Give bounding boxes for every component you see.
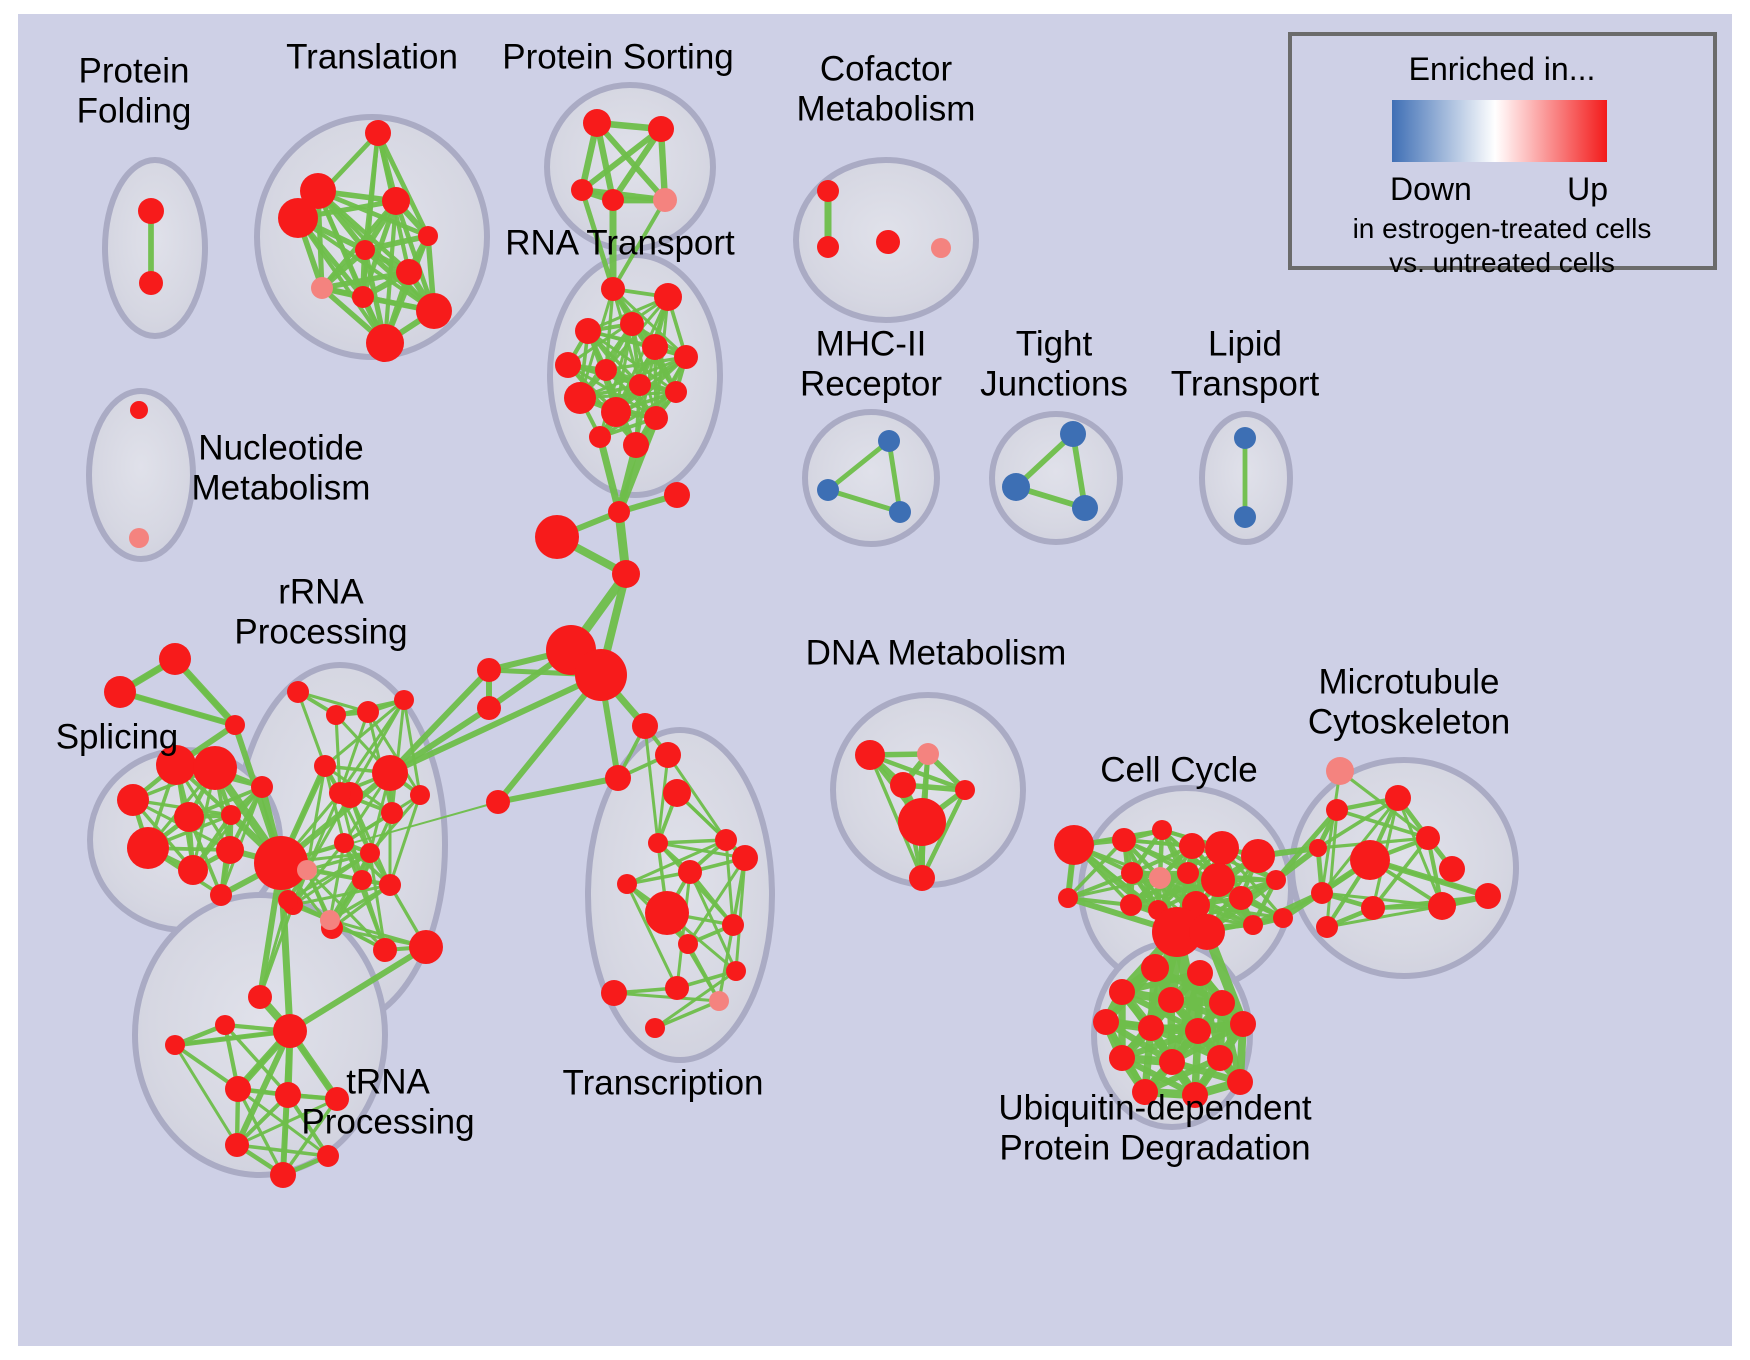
network-node[interactable] [665, 381, 687, 403]
network-node[interactable] [648, 116, 674, 142]
network-node[interactable] [564, 382, 596, 414]
network-node[interactable] [394, 690, 414, 710]
network-node[interactable] [311, 277, 333, 299]
network-node[interactable] [1326, 799, 1348, 821]
cluster-label-ubiquitin-protein-degradation: Ubiquitin-dependent [998, 1088, 1312, 1127]
network-node[interactable] [320, 910, 340, 930]
network-node[interactable] [909, 865, 935, 891]
network-node[interactable] [251, 776, 273, 798]
network-node[interactable] [1109, 979, 1135, 1005]
network-node[interactable] [715, 829, 737, 851]
cluster-label-protein-sorting: Protein Sorting [502, 37, 734, 76]
network-node[interactable] [876, 230, 900, 254]
network-node[interactable] [1326, 757, 1354, 785]
network-node[interactable] [1054, 825, 1094, 865]
cluster-label-lipid-transport: Transport [1171, 364, 1320, 403]
network-node[interactable] [216, 836, 244, 864]
network-node[interactable] [855, 740, 885, 770]
network-node[interactable] [326, 705, 346, 725]
network-node[interactable] [248, 985, 272, 1009]
network-diagram-svg: ProteinFoldingTranslationProtein Sorting… [0, 0, 1750, 1360]
cluster-label-splicing: Splicing [56, 717, 179, 756]
legend-high-label: Up [1567, 171, 1608, 207]
network-node[interactable] [352, 870, 372, 890]
network-node[interactable] [601, 980, 627, 1006]
network-node[interactable] [418, 226, 438, 246]
legend-gradient-bar [1392, 100, 1607, 162]
network-node[interactable] [817, 479, 839, 501]
network-node[interactable] [642, 334, 668, 360]
network-node[interactable] [1177, 862, 1199, 884]
network-node[interactable] [1209, 990, 1235, 1016]
network-node[interactable] [1243, 915, 1263, 935]
cluster-label-translation: Translation [286, 37, 458, 76]
network-node[interactable] [297, 860, 317, 880]
network-node[interactable] [1058, 888, 1078, 908]
network-node[interactable] [334, 833, 354, 853]
network-node[interactable] [486, 790, 510, 814]
network-node[interactable] [555, 352, 581, 378]
network-node[interactable] [138, 198, 164, 224]
network-node[interactable] [617, 874, 637, 894]
network-node[interactable] [645, 1018, 665, 1038]
network-node[interactable] [1201, 863, 1235, 897]
cluster-label-cofactor-metabolism: Cofactor [820, 49, 953, 88]
network-node[interactable] [678, 934, 698, 954]
network-node[interactable] [890, 772, 916, 798]
network-node[interactable] [1112, 828, 1136, 852]
network-node[interactable] [595, 359, 617, 381]
network-node[interactable] [878, 430, 900, 452]
network-node[interactable] [1234, 506, 1256, 528]
network-node[interactable] [817, 180, 839, 202]
network-node[interactable] [629, 374, 651, 396]
network-node[interactable] [1093, 1009, 1119, 1035]
network-node[interactable] [165, 1035, 185, 1055]
network-node[interactable] [663, 779, 691, 807]
network-node[interactable] [917, 743, 939, 765]
network-node[interactable] [314, 755, 336, 777]
network-node[interactable] [664, 482, 690, 508]
legend: Enriched in... Down Up in estrogen-treat… [1290, 34, 1715, 278]
cluster-label-mhc-ii-receptor: MHC-II [816, 324, 927, 363]
cluster-label-cell-cycle: Cell Cycle [1100, 750, 1258, 789]
network-node[interactable] [1350, 840, 1390, 880]
network-node[interactable] [275, 1082, 301, 1108]
network-node[interactable] [1185, 1018, 1211, 1044]
network-node[interactable] [1159, 1049, 1185, 1075]
network-node[interactable] [215, 1015, 235, 1035]
cluster-label-dna-metabolism: DNA Metabolism [806, 633, 1067, 672]
network-node[interactable] [726, 961, 746, 981]
cluster-label-tight-junctions: Tight [1016, 324, 1093, 363]
network-node[interactable] [575, 649, 627, 701]
network-node[interactable] [1207, 1045, 1233, 1071]
network-node[interactable] [139, 271, 163, 295]
cluster-label-transcription: Transcription [563, 1063, 764, 1102]
network-node[interactable] [1187, 960, 1213, 986]
cluster-label-protein-folding: Protein [79, 51, 190, 90]
network-node[interactable] [1361, 896, 1385, 920]
network-node[interactable] [575, 318, 601, 344]
network-node[interactable] [644, 406, 668, 430]
network-node[interactable] [1141, 954, 1169, 982]
network-node[interactable] [366, 324, 404, 362]
network-node[interactable] [329, 782, 351, 804]
network-node[interactable] [416, 293, 452, 329]
network-node[interactable] [571, 179, 593, 201]
cluster-label-microtubule-cytoskeleton: Cytoskeleton [1308, 702, 1510, 741]
network-node[interactable] [1120, 894, 1142, 916]
network-node[interactable] [535, 515, 579, 559]
network-node[interactable] [722, 914, 744, 936]
network-node[interactable] [1230, 1011, 1256, 1037]
network-node[interactable] [104, 676, 136, 708]
network-node[interactable] [360, 843, 380, 863]
network-node[interactable] [1385, 785, 1411, 811]
network-node[interactable] [117, 784, 149, 816]
cluster-label-protein-folding: Folding [77, 91, 192, 130]
cluster-region-mhc-ii-receptor[interactable] [805, 412, 937, 544]
network-node[interactable] [601, 277, 625, 301]
network-node[interactable] [654, 283, 682, 311]
network-node[interactable] [477, 696, 501, 720]
network-node[interactable] [1002, 473, 1030, 501]
network-node[interactable] [655, 742, 681, 768]
network-node[interactable] [1266, 870, 1286, 890]
network-node[interactable] [1273, 908, 1293, 928]
network-node[interactable] [602, 189, 624, 211]
network-node[interactable] [589, 426, 611, 448]
cluster-label-nucleotide-metabolism: Metabolism [192, 468, 371, 507]
network-node[interactable] [1229, 886, 1253, 910]
network-node[interactable] [396, 259, 422, 285]
network-node[interactable] [678, 860, 702, 884]
network-node[interactable] [1060, 421, 1086, 447]
cluster-label-mhc-ii-receptor: Receptor [800, 364, 942, 403]
network-node[interactable] [645, 891, 689, 935]
legend-caption-line2: vs. untreated cells [1389, 247, 1615, 278]
network-node[interactable] [898, 798, 946, 846]
network-node[interactable] [623, 432, 649, 458]
network-node[interactable] [352, 286, 374, 308]
legend-title: Enriched in... [1409, 51, 1596, 87]
network-node[interactable] [382, 187, 410, 215]
cluster-label-cofactor-metabolism: Metabolism [797, 89, 976, 128]
cluster-label-rrna-processing: rRNA [278, 572, 364, 611]
cluster-region-protein-folding[interactable] [105, 160, 205, 336]
network-node[interactable] [1311, 882, 1333, 904]
network-node[interactable] [127, 827, 169, 869]
network-node[interactable] [653, 188, 677, 212]
network-node[interactable] [225, 715, 245, 735]
legend-low-label: Down [1390, 171, 1472, 207]
network-node[interactable] [1138, 1015, 1164, 1041]
figure-canvas: ProteinFoldingTranslationProtein Sorting… [0, 0, 1750, 1360]
network-node[interactable] [1234, 427, 1256, 449]
network-node[interactable] [410, 785, 430, 805]
network-node[interactable] [1152, 820, 1172, 840]
network-node[interactable] [1241, 839, 1275, 873]
cluster-label-rrna-processing: Processing [234, 612, 407, 651]
network-node[interactable] [817, 236, 839, 258]
network-node[interactable] [648, 833, 668, 853]
network-node[interactable] [381, 802, 403, 824]
network-node[interactable] [612, 560, 640, 588]
network-node[interactable] [601, 397, 631, 427]
network-node[interactable] [889, 501, 911, 523]
network-node[interactable] [931, 238, 951, 258]
network-node[interactable] [178, 855, 208, 885]
legend-caption-line1: in estrogen-treated cells [1353, 213, 1652, 244]
network-node[interactable] [1179, 833, 1205, 859]
network-node[interactable] [1121, 862, 1143, 884]
network-node[interactable] [1072, 495, 1098, 521]
network-node[interactable] [605, 765, 631, 791]
network-node[interactable] [1428, 892, 1456, 920]
network-node[interactable] [357, 701, 379, 723]
network-node[interactable] [210, 884, 232, 906]
network-node[interactable] [1416, 826, 1440, 850]
cluster-label-trna-processing: Processing [301, 1102, 474, 1141]
network-node[interactable] [1439, 856, 1465, 882]
network-node[interactable] [159, 643, 191, 675]
cluster-label-trna-processing: tRNA [346, 1062, 430, 1101]
cluster-label-ubiquitin-protein-degradation: Protein Degradation [999, 1128, 1310, 1167]
network-node[interactable] [955, 780, 975, 800]
network-node[interactable] [365, 120, 391, 146]
cluster-label-nucleotide-metabolism: Nucleotide [198, 428, 363, 467]
network-node[interactable] [317, 1145, 339, 1167]
network-node[interactable] [732, 845, 758, 871]
network-node[interactable] [620, 312, 644, 336]
network-node[interactable] [270, 1162, 296, 1188]
cluster-label-rna-transport: RNA Transport [505, 223, 735, 262]
network-node[interactable] [372, 755, 408, 791]
network-node[interactable] [1189, 914, 1225, 950]
network-node[interactable] [1109, 1045, 1135, 1071]
network-node[interactable] [583, 109, 611, 137]
network-node[interactable] [221, 805, 241, 825]
network-node[interactable] [193, 746, 237, 790]
network-node[interactable] [379, 874, 401, 896]
cluster-label-microtubule-cytoskeleton: Microtubule [1319, 662, 1500, 701]
network-node[interactable] [225, 1076, 251, 1102]
network-node[interactable] [129, 528, 149, 548]
network-node[interactable] [278, 198, 318, 238]
network-node[interactable] [1309, 839, 1327, 857]
network-node[interactable] [608, 501, 630, 523]
cluster-label-lipid-transport: Lipid [1208, 324, 1282, 363]
cluster-label-tight-junctions: Junctions [980, 364, 1128, 403]
network-node[interactable] [1205, 831, 1239, 865]
network-node[interactable] [174, 802, 204, 832]
network-node[interactable] [1316, 916, 1338, 938]
network-node[interactable] [632, 713, 658, 739]
network-node[interactable] [278, 890, 298, 910]
network-node[interactable] [287, 681, 309, 703]
network-node[interactable] [373, 938, 397, 962]
network-node[interactable] [225, 1133, 249, 1157]
network-node[interactable] [355, 240, 375, 260]
network-node[interactable] [709, 991, 729, 1011]
network-node[interactable] [409, 930, 443, 964]
network-node[interactable] [477, 658, 501, 682]
network-node[interactable] [1475, 883, 1501, 909]
network-node[interactable] [130, 401, 148, 419]
network-node[interactable] [1158, 987, 1184, 1013]
network-node[interactable] [1149, 867, 1171, 889]
network-node[interactable] [674, 345, 698, 369]
network-node[interactable] [665, 976, 689, 1000]
network-node[interactable] [273, 1014, 307, 1048]
